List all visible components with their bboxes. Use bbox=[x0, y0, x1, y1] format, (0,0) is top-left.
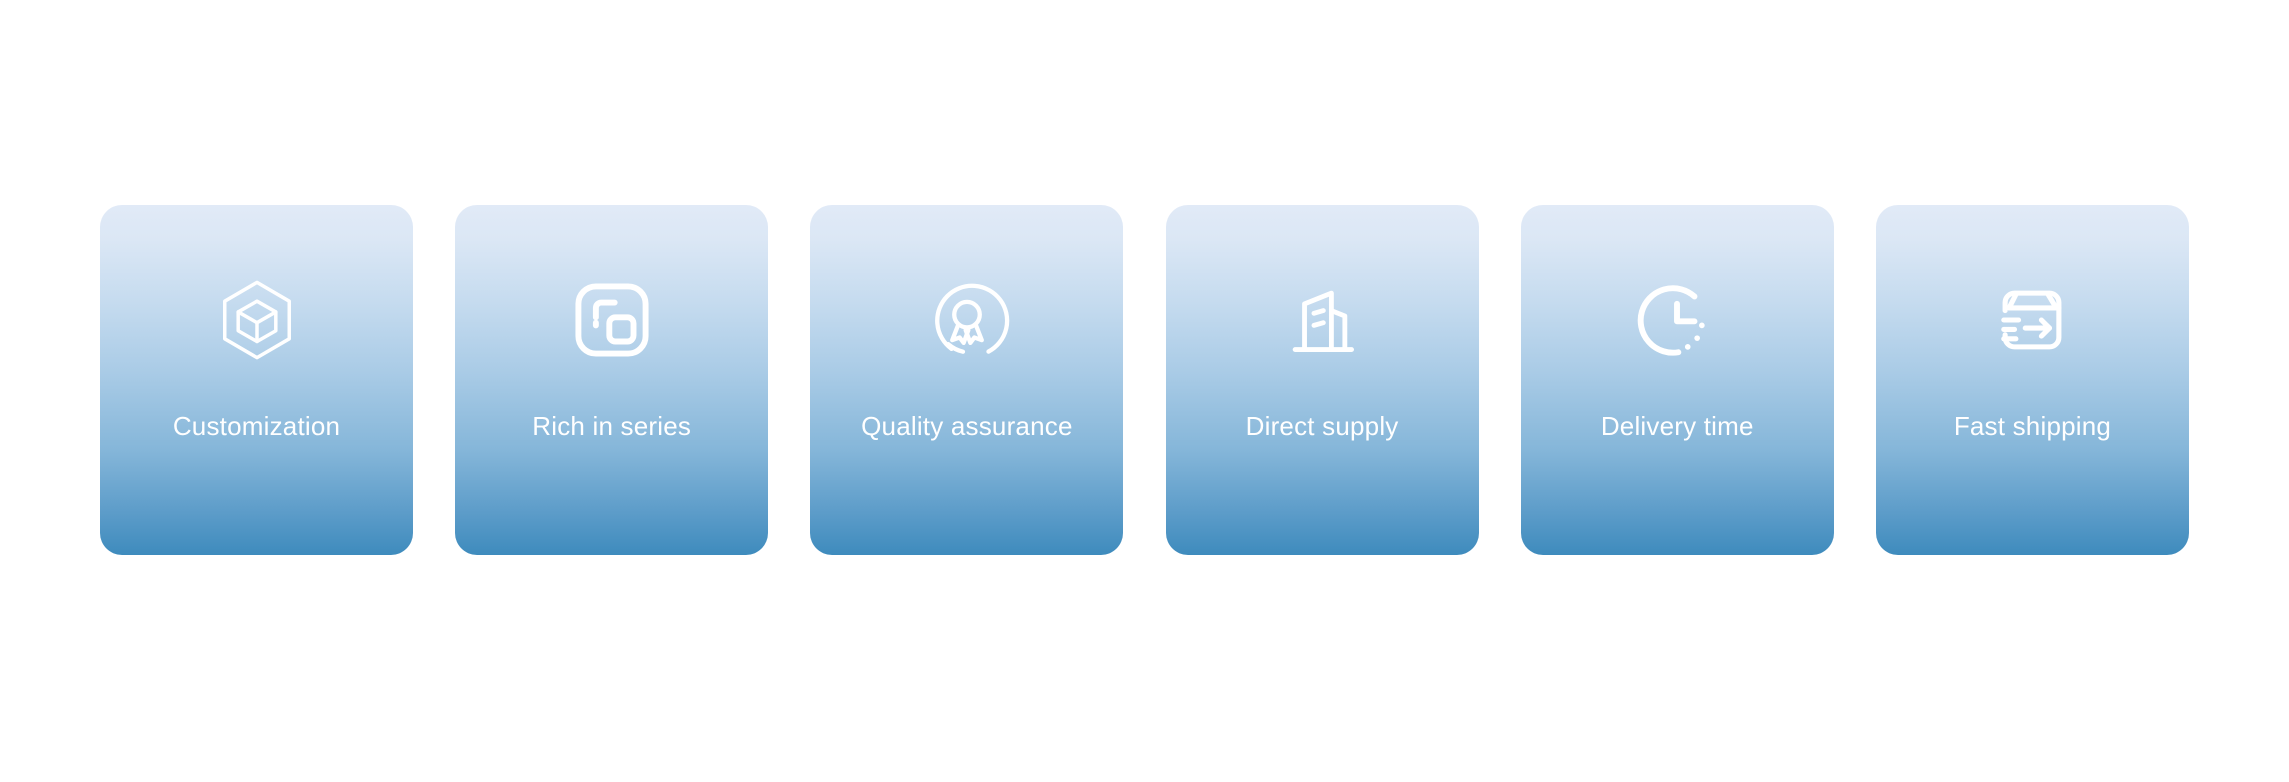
feature-card-label: Direct supply bbox=[1166, 411, 1479, 442]
feature-card-strip: Customization Rich in series Quality ass… bbox=[100, 205, 2189, 555]
feature-card[interactable]: Direct supply bbox=[1166, 205, 1479, 555]
feature-card-label: Delivery time bbox=[1521, 411, 1834, 442]
shipping-box-arrow-icon bbox=[1989, 277, 2075, 363]
feature-card[interactable]: Quality assurance bbox=[810, 205, 1123, 555]
feature-card-label: Customization bbox=[100, 411, 413, 442]
copy-layers-icon bbox=[569, 277, 655, 363]
feature-card-label: Fast shipping bbox=[1876, 411, 2189, 442]
feature-card[interactable]: Rich in series bbox=[455, 205, 768, 555]
factory-building-icon bbox=[1279, 277, 1365, 363]
feature-card-label: Quality assurance bbox=[810, 411, 1123, 442]
award-medal-icon bbox=[924, 277, 1010, 363]
feature-card[interactable]: Fast shipping bbox=[1876, 205, 2189, 555]
feature-card-label: Rich in series bbox=[455, 411, 768, 442]
feature-card[interactable]: Customization bbox=[100, 205, 413, 555]
feature-card[interactable]: Delivery time bbox=[1521, 205, 1834, 555]
clock-timer-icon bbox=[1634, 277, 1720, 363]
cube-icon bbox=[214, 277, 300, 363]
